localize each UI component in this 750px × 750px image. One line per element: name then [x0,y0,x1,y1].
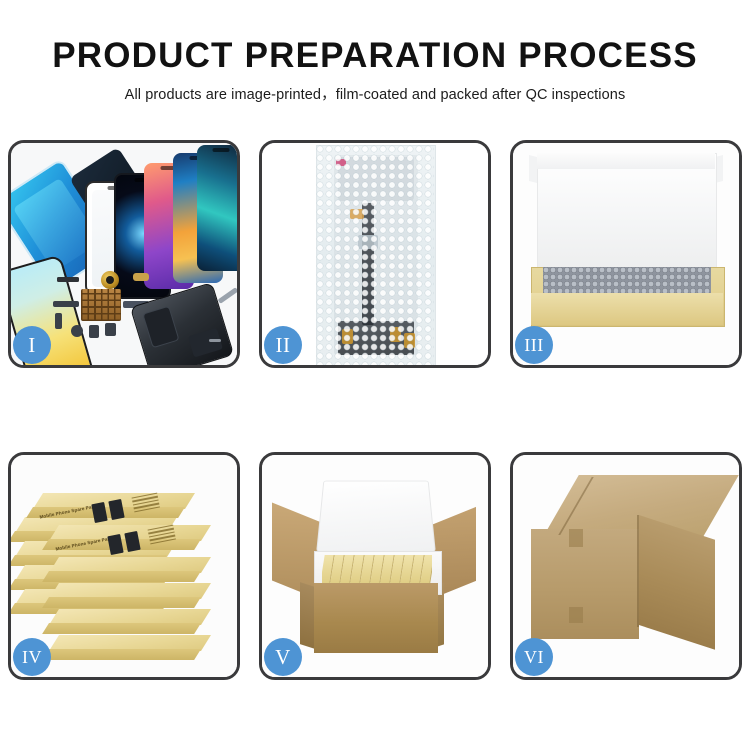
process-step-panel-6: VI [510,452,742,680]
process-step-grid: I II [8,140,742,682]
spare-part-flex-cable [53,301,79,307]
spare-part-connector [55,313,62,329]
step-badge-4: IV [13,638,51,676]
box-side-face [42,571,201,582]
box-side-face [42,597,201,608]
carton-tape-patch [569,607,583,623]
product-preparation-infographic: PRODUCT PREPARATION PROCESS All products… [0,0,750,750]
phone-teal-display-image [197,145,237,271]
box-side-face [42,623,201,634]
box-lid-edge [537,153,715,169]
step-badge-3: III [515,326,553,364]
box-side-face [42,649,201,660]
spare-part-screw [209,339,221,342]
carton-tape-patch [569,529,583,547]
header: PRODUCT PREPARATION PROCESS All products… [0,0,750,104]
step-badge-5: V [264,638,302,676]
stacked-box [49,583,201,607]
carton-front-wall [314,583,438,653]
process-step-panel-2: II [259,140,491,368]
spare-part-speaker-coil [101,271,119,289]
spare-part-button [71,325,83,337]
step-badge-6: VI [515,638,553,676]
box-stack-image: Mobile Phone Spare Parts Mobile Phone Sp… [15,473,233,663]
carton-right-face [639,515,715,650]
stacked-box [49,635,201,659]
stacked-box [49,557,201,581]
foam-bubble-insert [543,267,711,293]
notch-shape [213,148,230,152]
spare-part-sensor [105,323,116,336]
box-lid-panel [537,153,717,281]
step-badge-1: I [13,326,51,364]
process-step-panel-5: V [259,452,491,680]
process-step-panel-1: I [8,140,240,368]
box-tray-front-wall [531,293,723,325]
step-badge-2: II [264,326,302,364]
page-title: PRODUCT PREPARATION PROCESS [0,0,750,76]
spare-part-camera-module [89,325,99,338]
page-subtitle: All products are image-printed，film-coat… [0,76,750,104]
spare-part-screwdriver [218,287,237,304]
carton-corner-seam [637,515,639,627]
spare-part-chip-array [81,289,121,321]
spare-part-strip [57,277,79,282]
bubble-texture-overlay [316,145,434,365]
process-step-panel-3: III [510,140,742,368]
process-step-panel-4: Mobile Phone Spare Parts Mobile Phone Sp… [8,452,240,680]
spare-part-gold-clip [133,273,149,281]
carton-front-face [531,529,639,639]
stacked-box [49,609,201,633]
foam-lid-open [316,481,436,552]
